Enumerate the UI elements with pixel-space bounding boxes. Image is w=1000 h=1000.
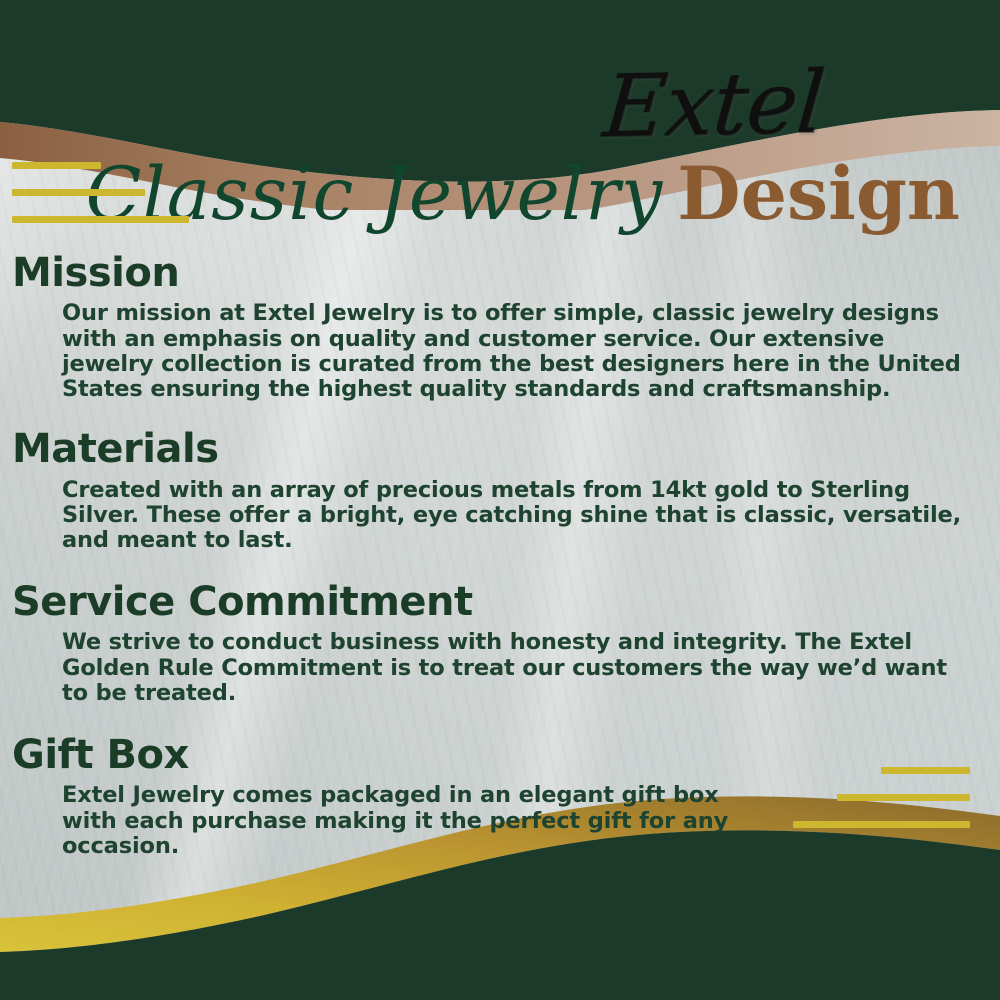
section-heading-materials: Materials [0, 428, 1000, 470]
section-service-commitment: Service Commitment We strive to conduct … [0, 581, 1000, 706]
section-mission: Mission Our mission at Extel Jewelry is … [0, 252, 1000, 402]
gold-rule-long [12, 216, 189, 223]
poster-canvas: Extel Classic JewelryDesign Mission Our … [0, 0, 1000, 1000]
gold-rule-medium-br [837, 794, 970, 801]
title-design: Design [677, 151, 960, 237]
gold-rule-long-br [793, 821, 970, 828]
gold-rule-medium [12, 189, 145, 196]
gold-rules-bottom-right [793, 767, 970, 848]
section-materials: Materials Created with an array of preci… [0, 428, 1000, 553]
section-body-mission: Our mission at Extel Jewelry is to offer… [0, 301, 1000, 402]
section-heading-mission: Mission [0, 252, 1000, 294]
gold-rule-short [12, 162, 101, 169]
section-body-materials: Created with an array of precious metals… [0, 478, 1000, 554]
brand-logo-extel: Extel [600, 60, 827, 151]
section-heading-service-commitment: Service Commitment [0, 581, 1000, 623]
gold-rules-top-left [12, 162, 189, 243]
section-body-service-commitment: We strive to conduct business with hones… [0, 630, 1000, 706]
gold-rule-short-br [881, 767, 970, 774]
